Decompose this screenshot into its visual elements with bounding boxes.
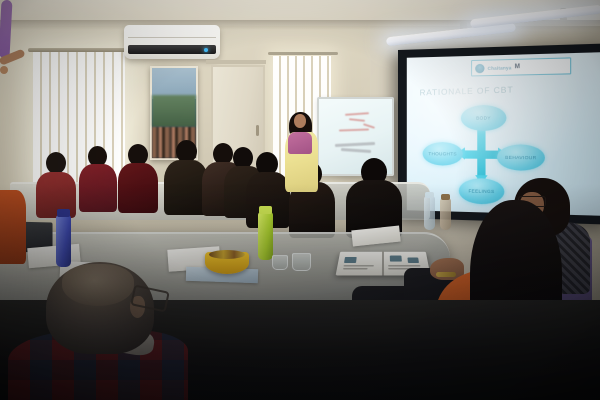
photo-sky (152, 68, 196, 99)
person-icon (475, 63, 484, 72)
book-photo (407, 258, 419, 263)
slide-logo-text: Chaitanya (488, 65, 512, 71)
drinking-glass[interactable] (292, 253, 311, 271)
slide-logo: Chaitanya M (471, 57, 571, 76)
water-bottle-blue[interactable] (56, 215, 71, 267)
bottle-cap[interactable] (259, 206, 272, 214)
bangle (436, 272, 456, 277)
grey-hair (62, 264, 134, 306)
presenter-pallu (0, 0, 13, 58)
diagram-node-behaviour: BEHAVIOUR (497, 144, 545, 171)
presenter-hand (0, 66, 8, 74)
diagram-node-thoughts: THOUGHTS (423, 142, 463, 166)
blind-rod (268, 52, 338, 55)
bottle-cap[interactable] (425, 192, 434, 198)
book-photo (390, 256, 402, 262)
slide-surface: Chaitanya M RATIONALE OF CBT BODY THOUGH… (407, 52, 600, 216)
photo-foliage (152, 95, 196, 127)
presenter-blouse (288, 132, 312, 154)
book-spine (382, 252, 384, 276)
workshop-photo: Chaitanya M RATIONALE OF CBT BODY THOUGH… (0, 0, 600, 400)
water-bottle-clear[interactable] (440, 198, 451, 230)
slide-logo-initial: M (515, 64, 520, 70)
ac-vent (128, 45, 216, 54)
drinking-glass[interactable] (272, 255, 288, 270)
air-conditioner (124, 25, 220, 59)
presenter (0, 0, 26, 74)
snack-bowl-contents (209, 250, 245, 259)
ac-power-led-icon (204, 48, 208, 52)
water-bottle-green[interactable] (258, 212, 273, 260)
slide-title: RATIONALE OF CBT (420, 85, 514, 97)
diagram-node-body: BODY (461, 105, 507, 131)
blind-rod (28, 48, 132, 52)
door-lintel (206, 60, 266, 64)
water-bottle-clear[interactable] (424, 196, 435, 230)
bottle-cap[interactable] (441, 194, 450, 200)
diagram-connector-horizontal (464, 150, 501, 159)
book-photo (344, 257, 357, 263)
ac-seam (128, 37, 216, 38)
bottle-cap[interactable] (57, 209, 70, 217)
door-handle-icon[interactable] (256, 125, 259, 136)
diagram-node-feelings: FEELINGS (459, 178, 505, 205)
presenter-face (294, 114, 306, 128)
